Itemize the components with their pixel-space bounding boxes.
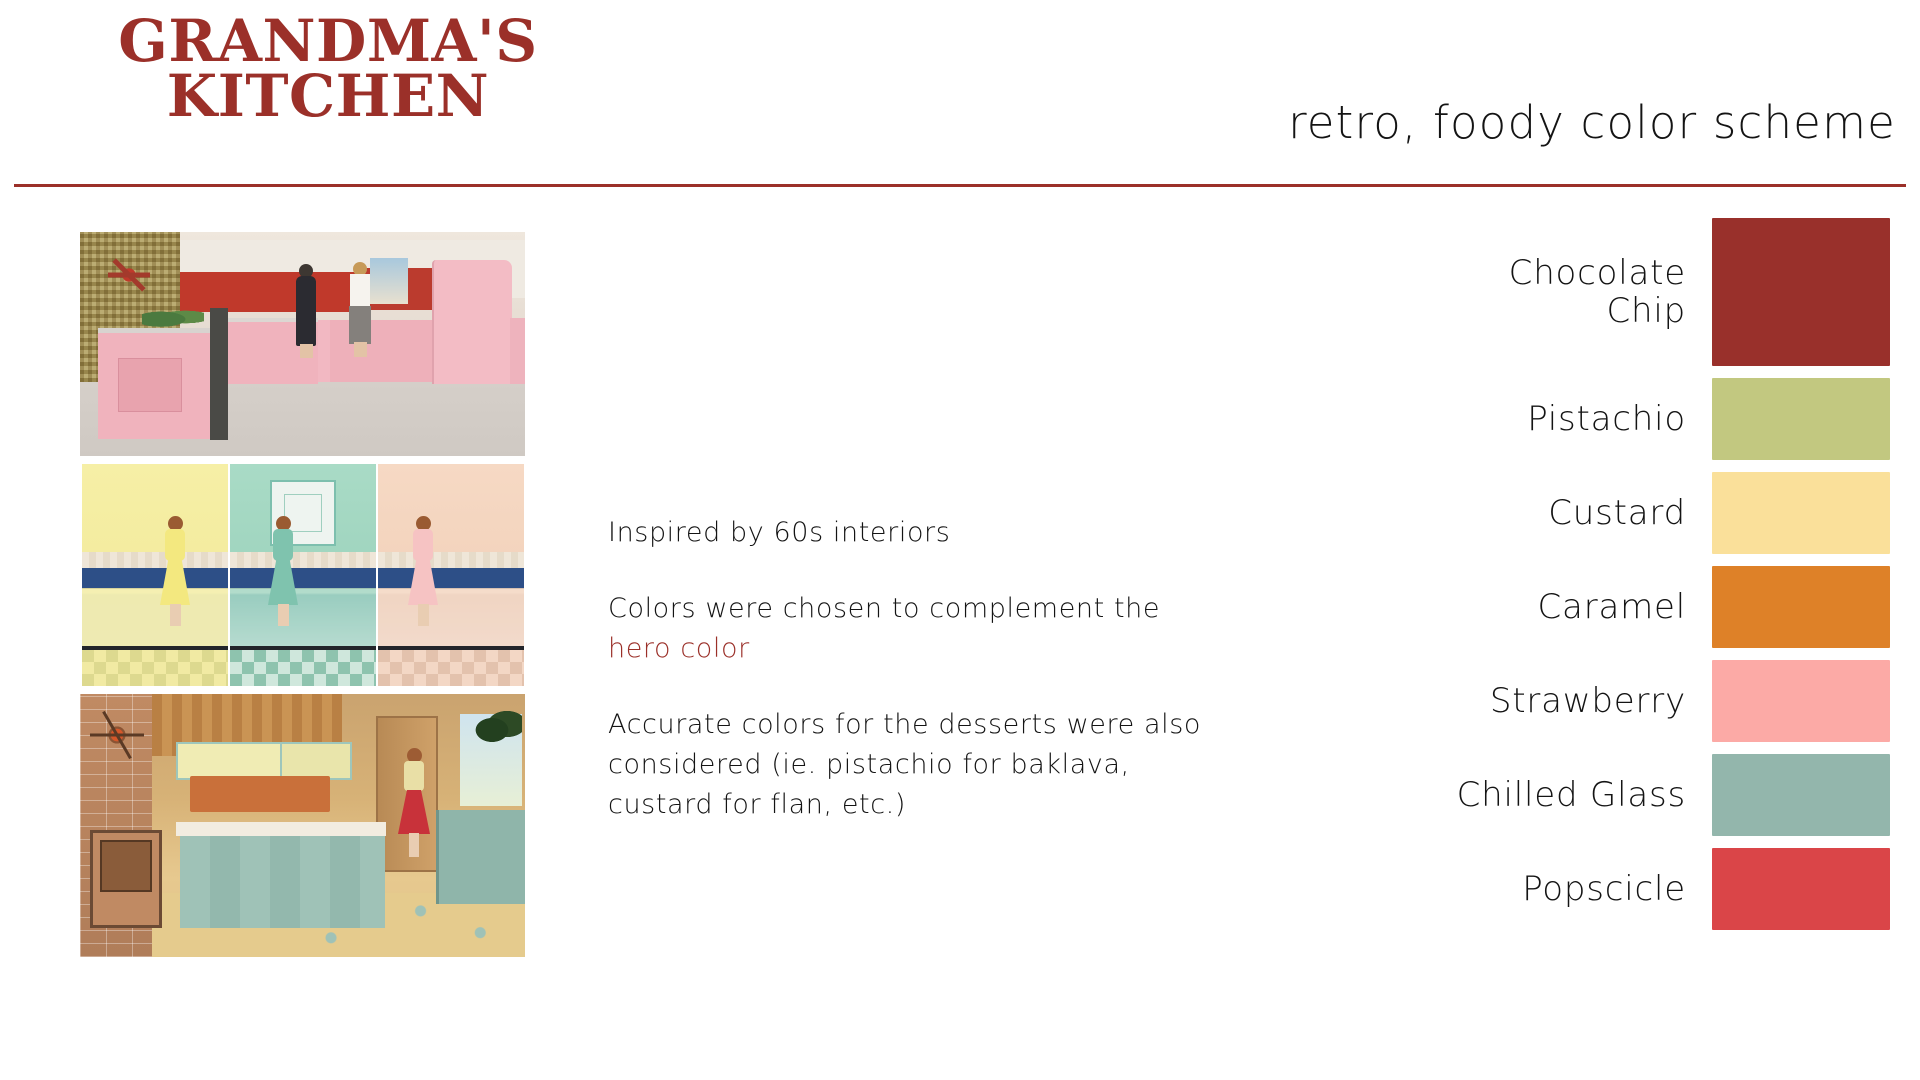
page-subtitle: retro, foody color scheme	[1288, 96, 1896, 149]
swatch-chip-chocolate-chip	[1712, 218, 1890, 366]
swatch-row-pistachio: Pistachio	[1330, 378, 1890, 460]
swatch-label-pistachio: Pistachio	[1330, 400, 1712, 438]
header-divider-rule	[14, 184, 1906, 187]
description-text-block: Inspired by 60s interiors Colors were ch…	[608, 513, 1228, 825]
swatch-chip-strawberry	[1712, 660, 1890, 742]
swatch-chip-pistachio	[1712, 378, 1890, 460]
photo-kitchen-triptych-illustration	[80, 460, 525, 690]
swatch-label-chocolate-chip: Chocolate Chip	[1330, 254, 1712, 330]
swatch-chip-popscicle	[1712, 848, 1890, 930]
swatch-label-custard: Custard	[1330, 494, 1712, 532]
swatch-row-chocolate-chip: Chocolate Chip	[1330, 218, 1890, 366]
swatch-label-strawberry: Strawberry	[1330, 682, 1712, 720]
swatch-row-caramel: Caramel	[1330, 566, 1890, 648]
swatch-chip-caramel	[1712, 566, 1890, 648]
photo-midcentury-kitchen	[80, 694, 525, 957]
photo-pink-1950s-kitchen	[80, 232, 525, 456]
swatch-row-custard: Custard	[1330, 472, 1890, 554]
swatch-chip-custard	[1712, 472, 1890, 554]
paragraph-complement: Colors were chosen to complement the her…	[608, 589, 1228, 669]
swatch-label-popscicle: Popscicle	[1330, 870, 1712, 908]
paragraph-complement-lead: Colors were chosen to complement the	[608, 593, 1160, 624]
swatch-row-popscicle: Popscicle	[1330, 848, 1890, 930]
paragraph-inspiration: Inspired by 60s interiors	[608, 513, 1228, 553]
swatch-row-chilled-glass: Chilled Glass	[1330, 754, 1890, 836]
swatch-label-chilled-glass: Chilled Glass	[1330, 776, 1712, 814]
color-palette-list: Chocolate Chip Pistachio Custard Caramel…	[1330, 218, 1890, 942]
paragraph-dessert-accuracy: Accurate colors for the desserts were al…	[608, 705, 1228, 825]
hero-color-accent: hero color	[608, 633, 750, 664]
swatch-label-caramel: Caramel	[1330, 588, 1712, 626]
swatch-chip-chilled-glass	[1712, 754, 1890, 836]
page-header: GRANDMA'S KITCHEN retro, foody color sch…	[0, 0, 1920, 192]
reference-photo-column	[80, 232, 525, 961]
brand-title: GRANDMA'S KITCHEN	[68, 14, 588, 124]
swatch-row-strawberry: Strawberry	[1330, 660, 1890, 742]
